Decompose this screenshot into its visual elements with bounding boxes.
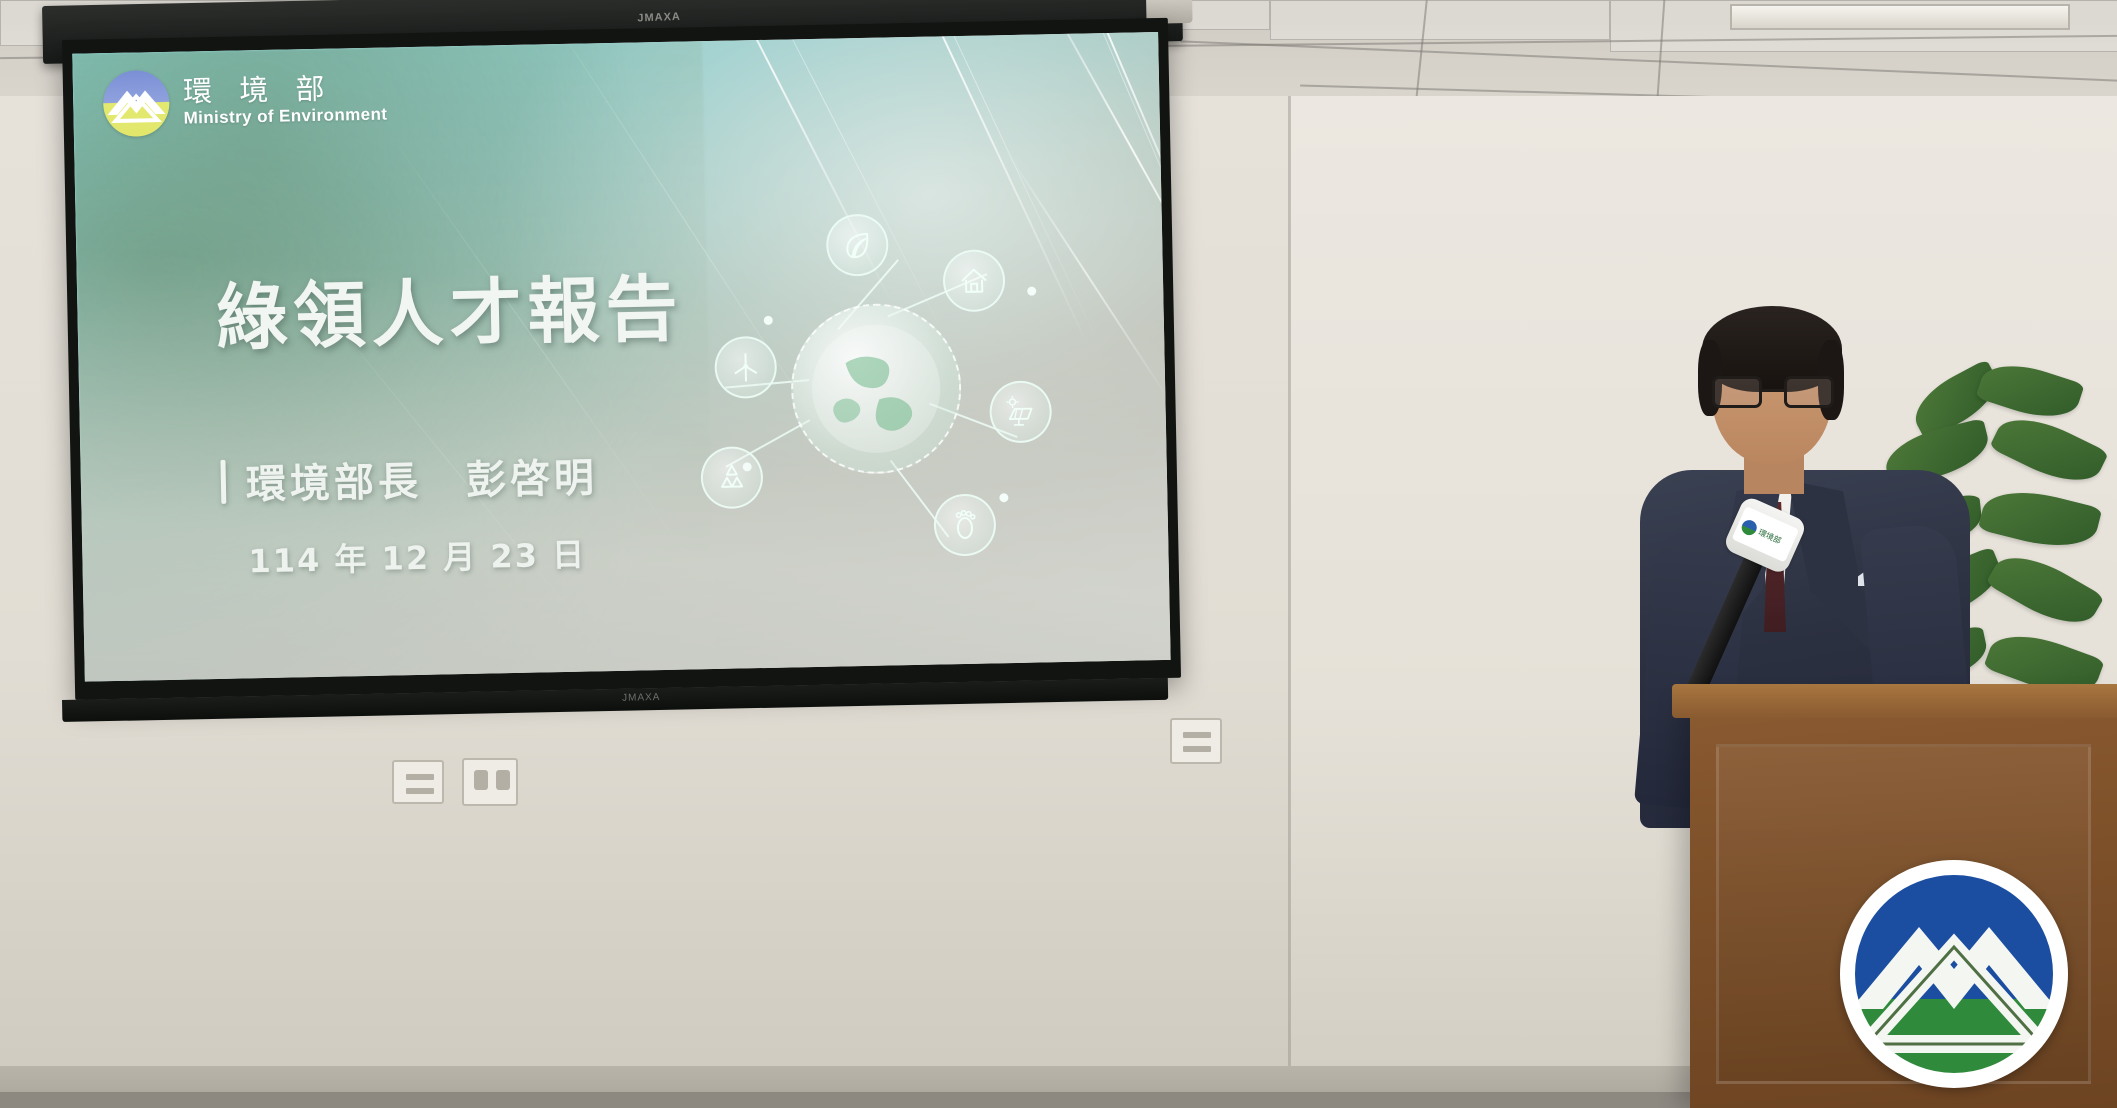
projector-screen: 環 境 部 Ministry of Environment bbox=[62, 18, 1181, 700]
wind-turbine-icon bbox=[714, 336, 777, 399]
mic-flag-logo-icon bbox=[1740, 517, 1760, 537]
press-conference-scene: JMAXA bbox=[0, 0, 2117, 1108]
presenter-rule bbox=[220, 460, 226, 504]
wall-outlet-1 bbox=[392, 760, 444, 804]
slide-logo-en: Ministry of Environment bbox=[183, 105, 387, 129]
podium-top-ledge bbox=[1672, 684, 2117, 718]
mic-station-flag: 環境部 bbox=[1732, 506, 1800, 562]
slide-presenter-line: 環境部長 彭啓明 bbox=[220, 445, 598, 511]
presenter-text: 環境部長 彭啓明 bbox=[245, 445, 598, 510]
ceiling-light-right bbox=[1730, 4, 2070, 30]
eyeglasses bbox=[1712, 376, 1834, 408]
podium bbox=[1690, 700, 2117, 1108]
slide-logo-block: 環 境 部 Ministry of Environment bbox=[103, 65, 388, 137]
solar-panel-icon bbox=[989, 380, 1052, 443]
globe-icon bbox=[789, 302, 962, 475]
slide-logo-zh: 環 境 部 bbox=[183, 72, 387, 107]
leaf-icon bbox=[826, 213, 889, 276]
moe-mountain-logo bbox=[103, 70, 170, 137]
mic-flag-text: 環境部 bbox=[1757, 526, 1783, 546]
screen-bottom-label: JMAXA bbox=[622, 692, 661, 704]
eco-icon-cluster bbox=[676, 203, 1114, 592]
slide-date: 114 年 12 月 23 日 bbox=[248, 530, 586, 583]
presentation-slide: 環 境 部 Ministry of Environment bbox=[72, 32, 1170, 682]
screen-brand-label: JMAXA bbox=[637, 11, 681, 25]
slide-title: 綠領人才報告 bbox=[214, 250, 684, 364]
wall-outlet-2 bbox=[462, 758, 518, 806]
wall-outlet-3 bbox=[1170, 718, 1222, 764]
recycle-icon bbox=[700, 446, 763, 509]
footprint-icon bbox=[933, 493, 996, 556]
moe-mountain-emblem bbox=[1840, 860, 2068, 1088]
house-icon bbox=[942, 249, 1005, 312]
